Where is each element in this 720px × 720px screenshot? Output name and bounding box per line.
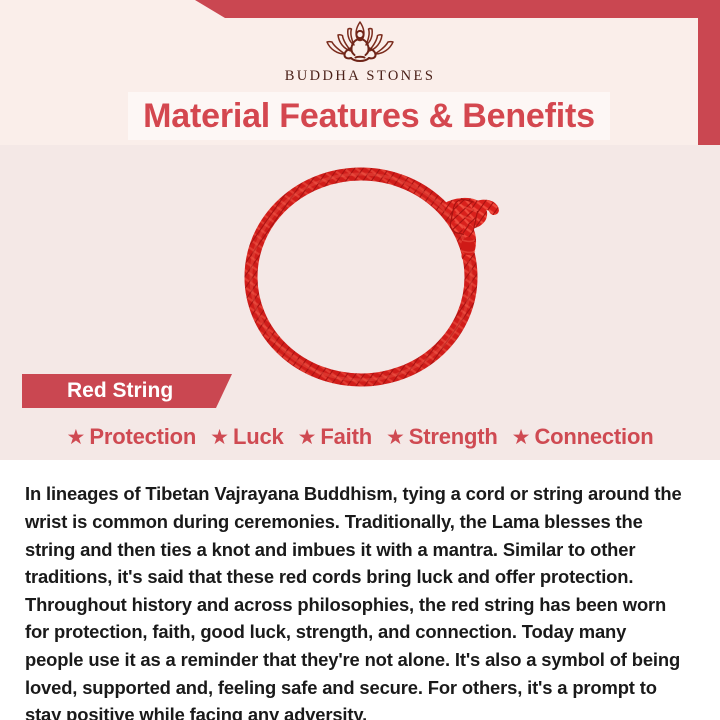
product-label: Red String bbox=[67, 379, 173, 403]
brand-name: BUDDHA STONES bbox=[285, 68, 436, 85]
benefit-label: Connection bbox=[534, 424, 653, 450]
product-label-ribbon: Red String bbox=[22, 374, 232, 408]
star-icon: ★ bbox=[386, 427, 405, 448]
benefit-item-strength: ★ Strength bbox=[381, 424, 503, 450]
star-icon: ★ bbox=[67, 427, 86, 448]
star-icon: ★ bbox=[298, 427, 317, 448]
brand-logo: BUDDHA STONES bbox=[0, 18, 720, 90]
benefit-label: Faith bbox=[320, 424, 372, 450]
benefit-label: Protection bbox=[89, 424, 196, 450]
page-title: Material Features & Benefits bbox=[143, 97, 595, 136]
benefit-item-luck: ★ Luck bbox=[205, 424, 288, 450]
benefit-item-connection: ★ Connection bbox=[507, 424, 659, 450]
lotus-meditation-icon bbox=[318, 18, 402, 66]
benefit-item-protection: ★ Protection bbox=[62, 424, 202, 450]
infographic-poster: BUDDHA STONES Material Features & Benefi… bbox=[0, 0, 720, 720]
benefit-label: Luck bbox=[233, 424, 284, 450]
top-border-band bbox=[0, 0, 720, 18]
benefit-label: Strength bbox=[409, 424, 498, 450]
description-text: In lineages of Tibetan Vajrayana Buddhis… bbox=[25, 480, 689, 720]
star-icon: ★ bbox=[512, 427, 531, 448]
product-image bbox=[228, 160, 508, 390]
title-banner: Material Features & Benefits bbox=[128, 92, 610, 140]
benefit-item-faith: ★ Faith bbox=[293, 424, 377, 450]
red-braided-cord-bracelet-icon bbox=[228, 160, 508, 390]
star-icon: ★ bbox=[210, 427, 229, 448]
benefits-row: ★ Protection ★ Luck ★ Faith ★ Strength ★… bbox=[22, 418, 698, 456]
